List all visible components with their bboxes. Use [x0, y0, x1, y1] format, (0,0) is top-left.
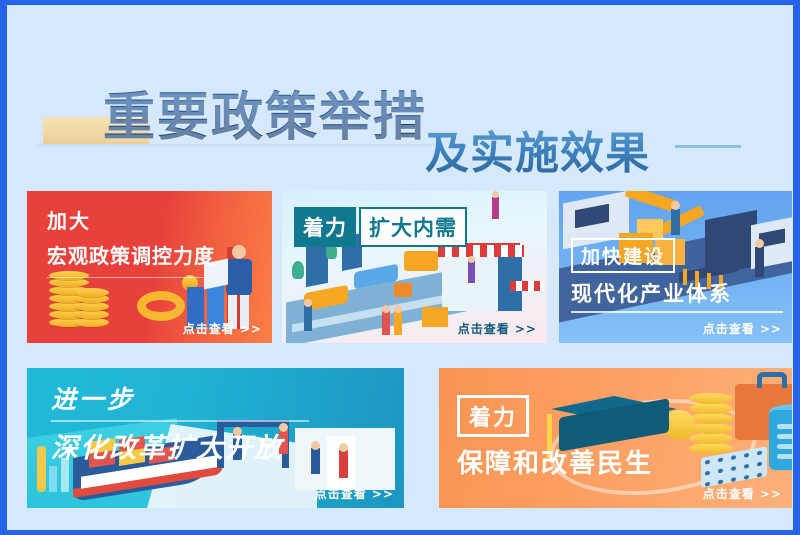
- coin-stack-icon: [689, 388, 733, 454]
- card-macro-policy[interactable]: 加大 宏观政策调控力度 点击查看 >>: [27, 191, 272, 343]
- worker-1-body: [671, 209, 680, 235]
- card-reform-opening-rule: [51, 420, 309, 422]
- card-livelihood-heading: 着力 保障和改善民生: [457, 395, 653, 480]
- coin-stack-short-icon: [75, 289, 109, 327]
- card-livelihood-line1: 着力: [457, 395, 529, 437]
- visitor-3-head: [311, 441, 320, 450]
- page-title: 重要政策举措: [103, 75, 427, 150]
- card-macro-policy-cta[interactable]: 点击查看 >>: [183, 320, 262, 337]
- card-industrial-system-line1: 加快建设: [571, 238, 675, 273]
- robot-arm-2-icon: [657, 205, 705, 236]
- card-livelihood-cta[interactable]: 点击查看 >>: [703, 485, 782, 502]
- card-industrial-system-heading: 加快建设 现代化产业体系: [571, 238, 783, 313]
- card-reform-opening-line2: 深化改革扩大开放: [51, 426, 309, 465]
- card-domestic-demand-line2: 扩大内需: [359, 207, 467, 247]
- card-domestic-demand[interactable]: 着力扩大内需 点击查看 >>: [282, 191, 547, 343]
- card-macro-policy-line2: 宏观政策调控力度: [47, 240, 215, 269]
- page-subtitle: 及实施效果: [425, 117, 650, 181]
- card-livelihood[interactable]: 着力 保障和改善民生 点击查看 >>: [439, 368, 792, 508]
- card-macro-policy-line1: 加大: [47, 205, 215, 234]
- card-domestic-demand-heading: 着力扩大内需: [294, 207, 467, 247]
- card-industrial-system-cta[interactable]: 点击查看 >>: [703, 320, 782, 337]
- visitor-3-body: [311, 448, 320, 474]
- page-header: 重要政策举措 及实施效果: [7, 35, 793, 155]
- page-root: 重要政策举措 及实施效果 加大 宏观政策调控力度: [0, 0, 800, 535]
- card-industrial-system[interactable]: 加快建设 现代化产业体系 点击查看 >>: [559, 191, 792, 343]
- medical-case-handle: [757, 372, 787, 388]
- card-reform-opening-heading: 进一步 深化改革扩大开放: [51, 380, 309, 465]
- card-domestic-demand-line1: 着力: [294, 207, 356, 247]
- card-reform-opening-cta[interactable]: 点击查看 >>: [315, 485, 394, 502]
- visitor-4-head: [339, 443, 348, 452]
- title-underline-right: [675, 145, 741, 148]
- card-domestic-demand-cta[interactable]: 点击查看 >>: [458, 320, 537, 337]
- card-macro-policy-rule: [47, 277, 215, 278]
- card-reform-opening-line1: 进一步: [51, 380, 309, 416]
- card-reform-opening[interactable]: 进一步 深化改革扩大开放 点击查看 >>: [27, 368, 404, 508]
- card-industrial-system-line2: 现代化产业体系: [571, 278, 783, 313]
- worker-1-head: [671, 201, 680, 210]
- card-macro-policy-heading: 加大 宏观政策调控力度: [47, 205, 215, 278]
- card-livelihood-line2: 保障和改善民生: [457, 443, 653, 480]
- coin-ring-icon: [137, 291, 185, 321]
- visitor-4-body: [339, 450, 348, 478]
- medicine-jar-icon: [769, 410, 792, 470]
